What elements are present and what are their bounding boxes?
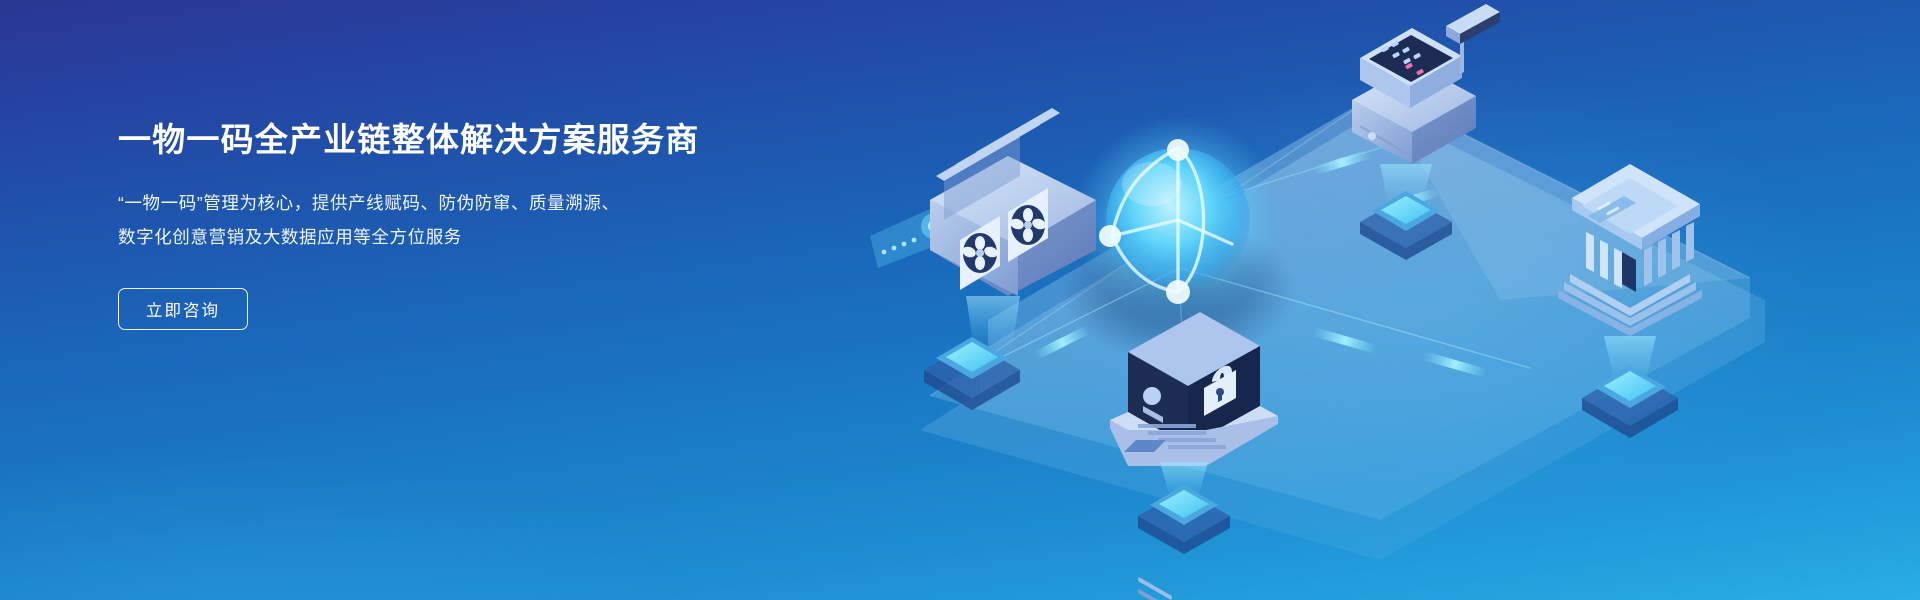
hero-subtitle-line-1: “一物一码”管理为核心，提供产线赋码、防伪防窜、质量溯源、 — [118, 186, 738, 220]
hero-illustration — [860, 0, 1920, 600]
sphere-specular — [1122, 162, 1182, 206]
consult-now-button[interactable]: 立即咨询 — [118, 288, 248, 330]
hero-subtitle-line-2: 数字化创意营销及大数据应用等全方位服务 — [118, 220, 738, 254]
isometric-network-scene — [860, 0, 1920, 600]
hero-banner: 一物一码全产业链整体解决方案服务商 “一物一码”管理为核心，提供产线赋码、防伪防… — [0, 0, 1920, 600]
hero-subtitle: “一物一码”管理为核心，提供产线赋码、防伪防窜、质量溯源、 数字化创意营销及大数… — [118, 186, 738, 254]
hero-copy: 一物一码全产业链整体解决方案服务商 “一物一码”管理为核心，提供产线赋码、防伪防… — [118, 120, 738, 330]
network-sphere — [1074, 116, 1282, 324]
cash-register-icon — [1352, 4, 1500, 164]
page-title: 一物一码全产业链整体解决方案服务商 — [118, 120, 738, 160]
